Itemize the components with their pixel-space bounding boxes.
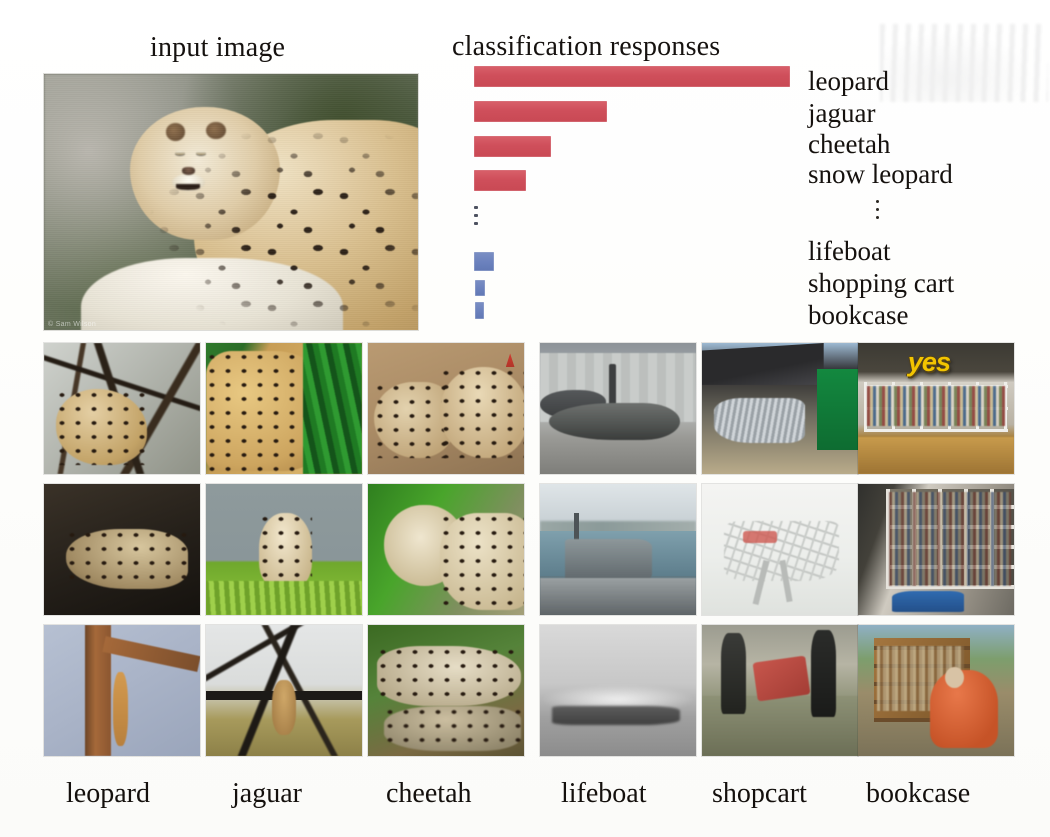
bar-snow-leopard xyxy=(474,170,526,191)
thumb-bookcase-r1c1: yes xyxy=(858,343,1014,474)
thumb-shopcart-r1c1 xyxy=(702,343,858,474)
class-label-jaguar: jaguar xyxy=(808,100,875,127)
bar-cheetah xyxy=(474,136,551,157)
input-image-photo: © Sam Wilson xyxy=(44,74,418,330)
category-label-lifeboat: lifeboat xyxy=(561,778,647,810)
yes-overlay-text: yes xyxy=(908,347,950,378)
class-label-snow-leopard: snow leopard xyxy=(808,161,953,188)
thumb-shopcart-r3c1 xyxy=(702,625,858,756)
category-label-leopard: leopard xyxy=(66,778,150,810)
bar-leopard xyxy=(474,66,790,87)
thumb-cheetah-r3c1 xyxy=(368,625,524,756)
bar-ellipsis xyxy=(474,206,479,230)
thumb-jaguar-r1c1 xyxy=(206,343,362,474)
category-label-jaguar: jaguar xyxy=(232,778,302,810)
page-title-input-image: input image xyxy=(150,32,285,64)
thumb-leopard-r1c1 xyxy=(44,343,200,474)
thumb-bookcase-r2c1 xyxy=(858,484,1014,615)
page-title-classification-responses: classification responses xyxy=(452,31,720,63)
background-ghost-artifact xyxy=(880,24,1048,102)
class-label-leopard: leopard xyxy=(808,68,889,95)
bar-bookcase xyxy=(475,302,484,319)
class-label-ellipsis xyxy=(876,200,879,224)
photo-grain xyxy=(44,74,418,330)
category-label-cheetah: cheetah xyxy=(386,778,472,810)
thumb-shopcart-r2c1 xyxy=(702,484,858,615)
thumb-lifeboat-r2c1 xyxy=(540,484,696,615)
bar-lifeboat xyxy=(474,252,494,271)
thumb-lifeboat-r3c1 xyxy=(540,625,696,756)
thumb-lifeboat-r1c1 xyxy=(540,343,696,474)
classification-bar-chart xyxy=(474,66,804,321)
thumb-cheetah-r1c1 xyxy=(368,343,524,474)
thumb-jaguar-r2c1 xyxy=(206,484,362,615)
bar-shopping-cart xyxy=(475,280,485,296)
thumb-cheetah-r2c1 xyxy=(368,484,524,615)
category-label-bookcase: bookcase xyxy=(866,778,970,810)
bar-jaguar xyxy=(474,101,607,122)
class-label-cheetah: cheetah xyxy=(808,131,890,158)
category-label-shopcart: shopcart xyxy=(712,778,807,810)
thumb-leopard-r2c1 xyxy=(44,484,200,615)
class-label-bookcase: bookcase xyxy=(808,302,908,329)
thumb-jaguar-r3c1 xyxy=(206,625,362,756)
class-label-lifeboat: lifeboat xyxy=(808,238,890,265)
class-label-shopping-cart: shopping cart xyxy=(808,270,954,297)
thumb-leopard-r3c1 xyxy=(44,625,200,756)
thumb-bookcase-r3c1 xyxy=(858,625,1014,756)
photo-credit: © Sam Wilson xyxy=(48,321,96,328)
